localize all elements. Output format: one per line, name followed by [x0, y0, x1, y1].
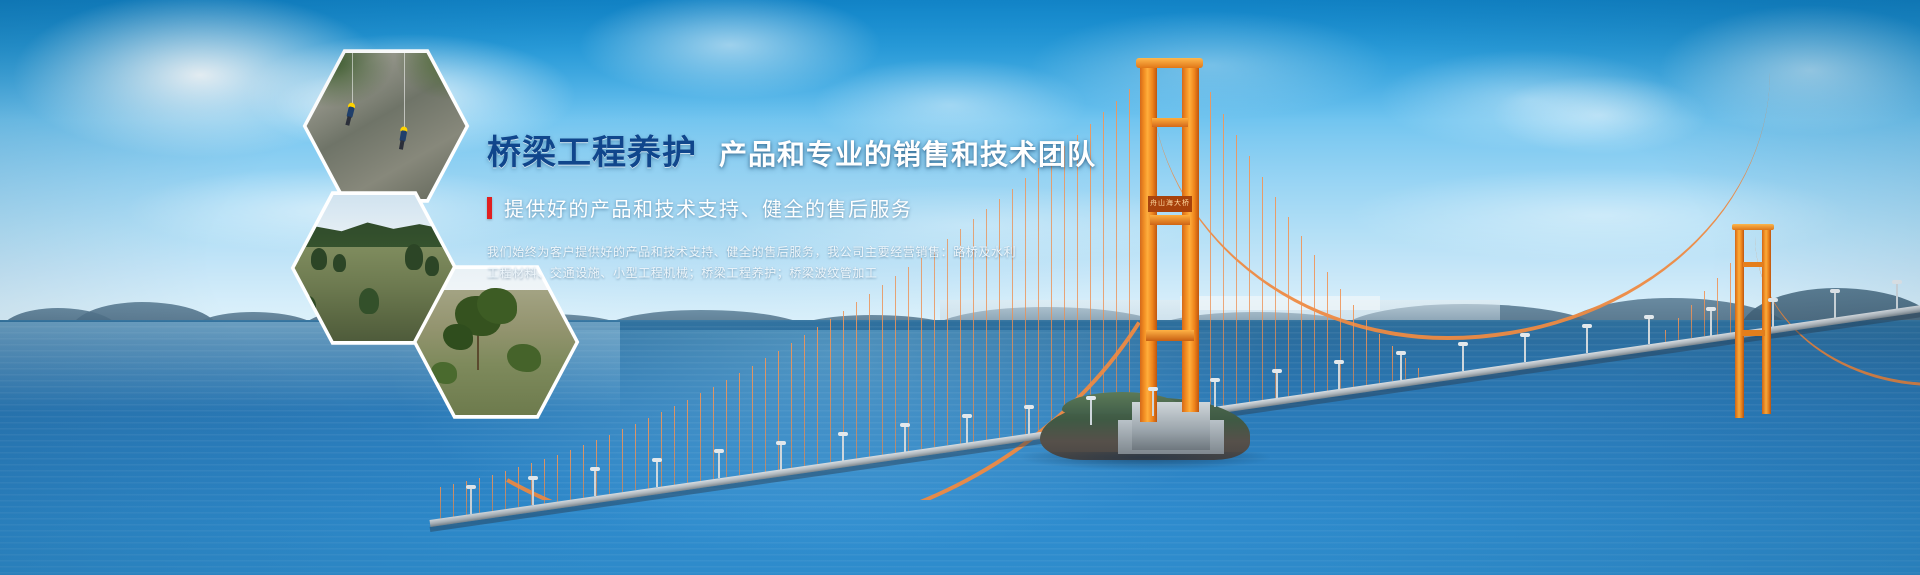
hanger-cable [1327, 272, 1328, 390]
hanger-cable [1665, 330, 1666, 342]
deck-lamp [1524, 336, 1526, 362]
deck-lamp [470, 488, 472, 514]
deck-lamp [532, 479, 534, 505]
hanger-cable [661, 412, 662, 487]
hanger-cable [869, 294, 870, 457]
hanger-cable [817, 327, 818, 464]
hanger-cable [921, 258, 922, 450]
hanger-cable [570, 450, 571, 500]
hanger-cable [518, 467, 519, 507]
headline-secondary: 产品和专业的销售和技术团队 [719, 133, 1096, 173]
hanger-cable [1340, 289, 1341, 389]
far-tower-right-leg [1762, 228, 1771, 414]
hanger-cable [687, 400, 688, 483]
deck-lamp [1710, 310, 1712, 336]
hanger-cable [713, 387, 714, 480]
hanger-cable [635, 424, 636, 491]
deck-lamp [1586, 327, 1588, 353]
hanger-cable [791, 343, 792, 468]
banner-text-block: 桥梁工程养护 产品和专业的销售和技术团队 提供好的产品和技术支持、健全的售后服务… [487, 125, 1307, 284]
hanger-cable [544, 459, 545, 504]
deck-lamp [718, 452, 720, 478]
hanger-cable [804, 335, 805, 466]
main-tower-crossbeam-lower [1146, 330, 1194, 341]
headline-primary: 桥梁工程养护 [487, 125, 697, 174]
deck-lamp [1276, 372, 1278, 398]
hanger-cable [1730, 263, 1731, 332]
deck-lamp [1338, 363, 1340, 389]
subheadline: 提供好的产品和技术支持、健全的售后服务 [504, 193, 913, 222]
hanger-cable [1353, 305, 1354, 387]
body-line-2: 工程材料、交通设施、小型工程机械；桥梁工程养护；桥梁波纹管加工 [487, 263, 1307, 284]
deck-lamp [1400, 354, 1402, 380]
hanger-cable [1678, 318, 1679, 341]
far-tower-crossbeam-upper [1743, 262, 1764, 267]
hanger-cable [739, 373, 740, 476]
hex-photo-slope-mesh-workers[interactable] [301, 46, 471, 206]
hanger-cable [752, 366, 753, 474]
hanger-cable [895, 276, 896, 453]
deck-lamp [1152, 390, 1154, 416]
far-tower-left-leg [1735, 228, 1744, 418]
deck-lamp [966, 417, 968, 443]
deck-lamp [1648, 318, 1650, 344]
hanger-cable [1392, 346, 1393, 381]
hanger-cable [726, 380, 727, 478]
deck-lamp [1772, 301, 1774, 327]
hanger-cable [609, 435, 610, 494]
hanger-cable [583, 445, 584, 498]
hanger-cable [1704, 291, 1705, 336]
body-line-1: 我们始终为客户提供好的产品和技术支持、健全的售后服务，我公司主要经营销售：路桥及… [487, 242, 1307, 263]
deck-lamp [1462, 345, 1464, 371]
hanger-cable [648, 418, 649, 489]
hanger-cable [1379, 334, 1380, 384]
body-paragraph: 我们始终为客户提供好的产品和技术支持、健全的售后服务，我公司主要经营销售：路桥及… [487, 242, 1307, 284]
hanger-cable [1717, 278, 1718, 335]
deck-lamp [1214, 381, 1216, 407]
deck-lamp [904, 426, 906, 452]
hanger-cable [453, 484, 454, 516]
far-tower-cap [1732, 224, 1774, 230]
hanger-cable [700, 393, 701, 481]
deck-lamp [1028, 408, 1030, 434]
hanger-cable [440, 487, 441, 518]
hanger-cable [1691, 305, 1692, 339]
hanger-cable [830, 319, 831, 462]
far-tower-crossbeam-lower [1742, 330, 1765, 336]
hanger-cable [674, 406, 675, 485]
accent-bar-icon [487, 197, 492, 219]
subheadline-row: 提供好的产品和技术支持、健全的售后服务 [487, 193, 1307, 222]
pier-island-shadow [1020, 452, 1270, 470]
hanger-cable [1366, 320, 1367, 385]
hanger-cable [765, 358, 766, 471]
hanger-cable [882, 285, 883, 455]
hanger-cable [479, 478, 480, 513]
hanger-cable [492, 475, 493, 511]
deck-lamp [1896, 283, 1898, 309]
hanger-cable [778, 351, 779, 470]
deck-lamp [1090, 399, 1092, 425]
headline: 桥梁工程养护 产品和专业的销售和技术团队 [487, 125, 1307, 174]
main-tower-cap [1136, 58, 1203, 68]
deck-lamp [842, 435, 844, 461]
deck-lamp [1834, 292, 1836, 318]
hanger-cable [1314, 255, 1315, 393]
deck-lamp [594, 470, 596, 496]
deck-lamp [780, 444, 782, 470]
hanger-cable [557, 455, 558, 502]
hanger-cable [622, 429, 623, 492]
hanger-cable [1405, 358, 1406, 380]
deck-lamp [656, 461, 658, 487]
hanger-cable [505, 471, 506, 509]
hanger-cable [856, 302, 857, 458]
hero-banner: 舟山海大桥 [0, 0, 1920, 575]
hanger-cable [1418, 368, 1419, 378]
